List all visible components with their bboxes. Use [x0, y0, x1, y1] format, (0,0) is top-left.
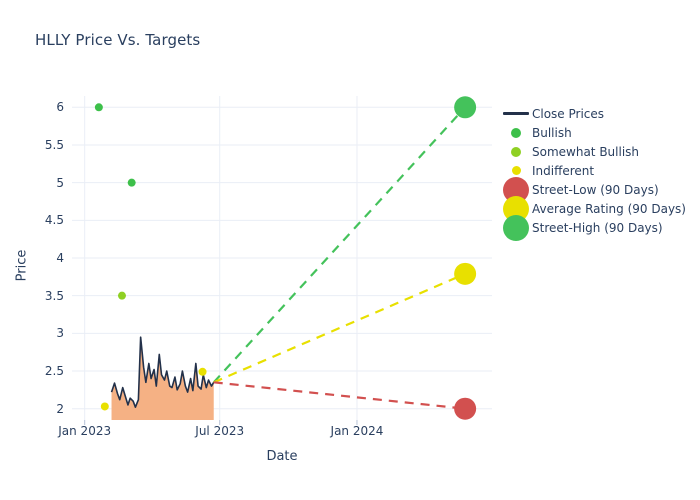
chart-title: HLLY Price Vs. Targets: [35, 31, 200, 49]
legend-item-label: Bullish: [532, 126, 572, 140]
y-axis-tick-label: 3: [0, 326, 64, 340]
x-axis-tick-label: Jan 2024: [331, 424, 384, 438]
target-marker-average-rating-days[interactable]: [454, 263, 476, 285]
chart-legend: Close PricesBullishSomewhat BullishIndif…: [500, 104, 696, 237]
legend-item-label: Indifferent: [532, 164, 594, 178]
legend-item-label: Street-Low (90 Days): [532, 183, 659, 197]
legend-item[interactable]: Bullish: [500, 123, 696, 142]
rating-point-bullish[interactable]: [95, 103, 103, 111]
y-axis-tick-label: 4: [0, 251, 64, 265]
rating-point-indifferent[interactable]: [101, 402, 109, 410]
legend-dot-icon: [500, 147, 532, 157]
legend-dot-icon: [500, 166, 532, 175]
legend-item[interactable]: Somewhat Bullish: [500, 142, 696, 161]
target-marker-street-high-days[interactable]: [454, 96, 476, 118]
rating-point-indifferent[interactable]: [199, 368, 207, 376]
y-axis-tick-label: 2: [0, 402, 64, 416]
target-line-street-high-days: [214, 107, 465, 382]
x-axis-title: Date: [72, 449, 492, 464]
target-line-street-low-days: [214, 382, 465, 408]
y-axis-title: Price: [15, 236, 30, 296]
y-axis-tick-label: 2.5: [0, 364, 64, 378]
rating-point-bullish[interactable]: [128, 179, 136, 187]
legend-item-label: Close Prices: [532, 107, 604, 121]
legend-item-label: Average Rating (90 Days): [532, 202, 686, 216]
legend-dot-icon: [500, 215, 532, 241]
chart-container: HLLY Price Vs. Targets 22.533.544.555.56…: [0, 0, 700, 500]
legend-line-icon: [500, 112, 532, 115]
legend-item[interactable]: Close Prices: [500, 104, 696, 123]
close-prices-area: [112, 337, 214, 420]
legend-dot-swatch: [511, 147, 521, 157]
plot-svg: [72, 96, 492, 420]
rating-point-somewhat-bullish[interactable]: [118, 292, 126, 300]
y-axis-tick-label: 6: [0, 100, 64, 114]
legend-dot-swatch: [512, 166, 521, 175]
legend-dot-swatch: [503, 215, 529, 241]
target-line-average-rating-days: [214, 274, 465, 383]
x-axis-tick-label: Jan 2023: [58, 424, 111, 438]
y-axis-tick-label: 5.5: [0, 138, 64, 152]
plot-area: [72, 96, 492, 420]
legend-line-swatch: [503, 112, 529, 115]
y-axis-tick-label: 4.5: [0, 213, 64, 227]
legend-item[interactable]: Street-High (90 Days): [500, 218, 696, 237]
target-marker-street-low-days[interactable]: [454, 398, 476, 420]
legend-item-label: Street-High (90 Days): [532, 221, 663, 235]
y-axis-tick-label: 3.5: [0, 289, 64, 303]
y-axis-tick-label: 5: [0, 176, 64, 190]
legend-dot-swatch: [511, 128, 521, 138]
legend-item-label: Somewhat Bullish: [532, 145, 639, 159]
x-axis-tick-label: Jul 2023: [195, 424, 244, 438]
legend-dot-icon: [500, 128, 532, 138]
